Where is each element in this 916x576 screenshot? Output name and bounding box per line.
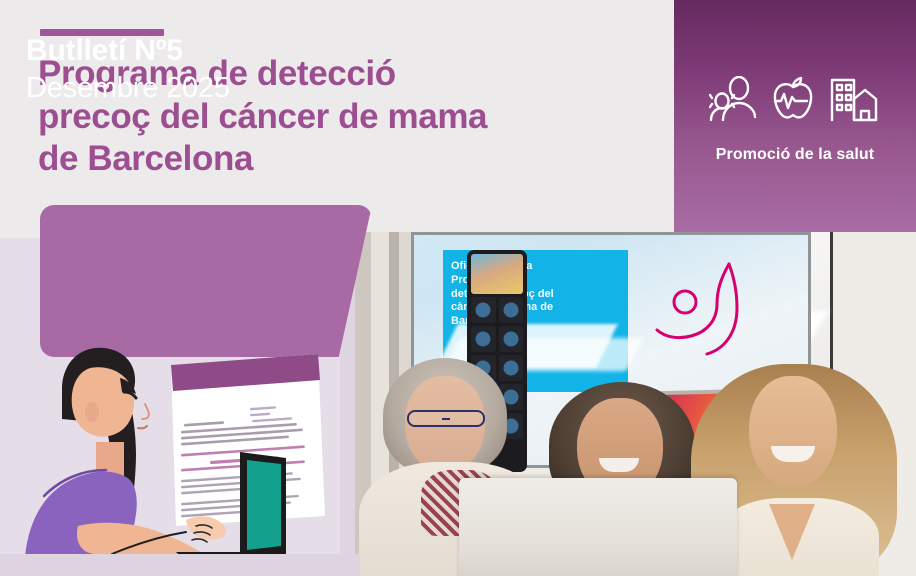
newsletter-poster: Programa de detecció precoç del cáncer d…	[0, 0, 916, 576]
call-participant-tile	[499, 297, 524, 323]
health-promotion-panel: Promoció de la salut	[674, 0, 916, 238]
team-photo: Oficina Tècnica Programa de detecció pre…	[355, 232, 916, 576]
logo-caption: Promoció de la salut	[674, 146, 916, 164]
woman-at-laptop-illustration	[0, 330, 360, 576]
laptop-foreground	[459, 478, 737, 576]
bulletin-date: Desembre 2025	[26, 72, 230, 105]
bulletin-number: Butlletí Nº5	[26, 34, 183, 68]
call-participant-tile	[499, 326, 524, 352]
apple-heartbeat-icon	[767, 76, 819, 122]
call-participant-tile	[471, 326, 496, 352]
people-icon	[709, 76, 759, 122]
call-self-tile	[471, 254, 523, 294]
call-participant-tile	[471, 297, 496, 323]
buildings-icon	[827, 76, 881, 122]
person-left-glasses	[407, 410, 485, 427]
illustration-floor	[0, 554, 360, 576]
logo-icon-group	[674, 76, 916, 122]
person-right-face	[749, 376, 837, 488]
